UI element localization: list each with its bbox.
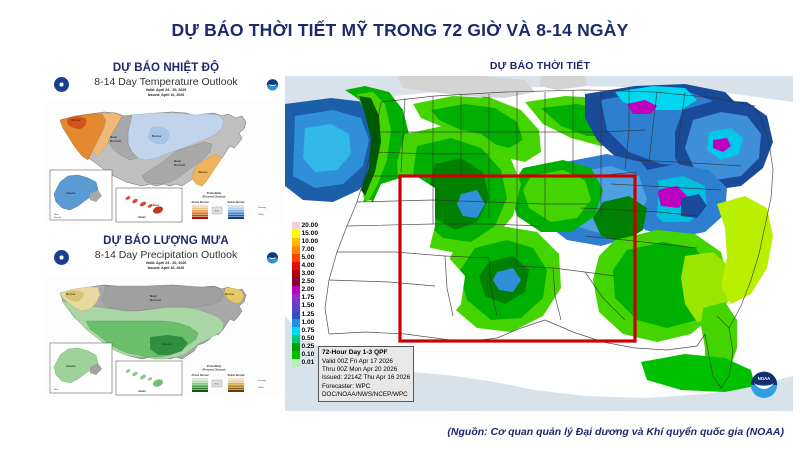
colorbar-value: 1.50 xyxy=(302,302,315,310)
label-near-normal-east2: Normal xyxy=(174,163,185,167)
legend-leaning: Leaning xyxy=(258,380,267,382)
colorbar-swatch xyxy=(292,302,300,310)
temperature-panel-subtitle: 8-14 Day Temperature Outlook xyxy=(46,76,286,88)
label-below-nw: Below xyxy=(66,292,76,296)
colorbar-swatch xyxy=(292,319,300,327)
temperature-outlook-panel: DỰ BÁO NHIỆT ĐỘ 8-14 Day Temperature Out… xyxy=(46,62,286,224)
colorbar-value: 15.00 xyxy=(302,230,319,238)
colorbar-row: 7.00 xyxy=(292,246,338,254)
precipitation-map[interactable]: Below Below Near Normal Above Alaska Nea… xyxy=(46,275,286,397)
info-forecaster: Forecaster: WPC xyxy=(322,383,410,391)
precipitation-panel-header: 8-14 Day Precipitation Outlook Valid: Ap… xyxy=(46,249,286,275)
legend-below-label: Below Normal xyxy=(228,201,245,204)
colorbar-row: 4.00 xyxy=(292,262,338,270)
legend-above-label: Above Normal xyxy=(192,201,209,204)
colorbar-swatch xyxy=(292,278,300,286)
legend-below-swatches xyxy=(228,205,244,219)
legend-near-label: Near xyxy=(215,210,220,213)
legend-subtitle: (Percent Chance) xyxy=(202,368,225,372)
colorbar-value: 1.25 xyxy=(302,311,315,319)
info-header: 72-Hour Day 1-3 QPF xyxy=(322,349,410,358)
legend-near-label: Near xyxy=(215,383,220,386)
temperature-issued-date: Issued: April 16, 2026 xyxy=(46,93,286,98)
colorbar-row: 0.50 xyxy=(292,335,338,343)
legend-above-swatches xyxy=(192,205,208,219)
label-below-maine: Below xyxy=(225,292,235,296)
label-above-nw: Above xyxy=(71,118,81,122)
colorbar-value: 10.00 xyxy=(302,238,319,246)
info-issued: Issued: 2214Z Thu Apr 16 2026 xyxy=(322,374,410,382)
colorbar-swatch xyxy=(292,262,300,270)
colorbar-value: 20.00 xyxy=(302,222,319,230)
legend-leaning: Leaning xyxy=(258,207,267,209)
alaska-inset-precip: Alaska Near xyxy=(50,343,112,393)
legend-below-label: Below Normal xyxy=(228,374,245,377)
label-hawaii: Hawaii xyxy=(138,390,146,393)
label-near-normal-n2: Normal xyxy=(150,298,161,302)
colorbar-swatch xyxy=(292,230,300,238)
noaa-wordmark: NOAA xyxy=(758,376,771,381)
legend-above-swatches xyxy=(192,378,208,392)
qpf-info-box: 72-Hour Day 1-3 QPF Valid 00Z Fri Apr 17… xyxy=(318,346,414,402)
page-title: DỰ BÁO THỜI TIẾT MỸ TRONG 72 GIỜ VÀ 8-14… xyxy=(0,20,800,41)
colorbar-value: 0.25 xyxy=(302,343,315,351)
slide-root: DỰ BÁO THỜI TIẾT MỸ TRONG 72 GIỜ VÀ 8-14… xyxy=(0,0,800,450)
noaa-logo-icon: NOAA xyxy=(747,367,781,401)
legend-likely: Likely xyxy=(258,214,264,216)
colorbar-value: 1.00 xyxy=(302,319,315,327)
temperature-map[interactable]: Above Below Near Normal Near Normal Abov… xyxy=(46,102,286,224)
temperature-legend: Probability (Percent Chance) Above Norma… xyxy=(192,191,267,219)
colorbar-row: 5.00 xyxy=(292,254,338,262)
temperature-panel-dates: Valid: April 24 - 30, 2026 Issued: April… xyxy=(46,88,286,98)
label-near-normal-west2: Normal xyxy=(110,139,121,143)
legend-below-swatches xyxy=(228,378,244,392)
colorbar-swatch xyxy=(292,343,300,351)
colorbar-row: 2.00 xyxy=(292,286,338,294)
colorbar-row: 1.75 xyxy=(292,294,338,302)
colorbar-swatch xyxy=(292,335,300,343)
colorbar-value: 0.50 xyxy=(302,335,315,343)
precipitation-issued-date: Issued: April 16, 2026 xyxy=(46,266,286,271)
colorbar-swatch xyxy=(292,311,300,319)
colorbar-value: 0.10 xyxy=(302,351,315,359)
precipitation-panel-title: DỰ BÁO LƯỢNG MƯA xyxy=(46,235,286,247)
temperature-panel-header: 8-14 Day Temperature Outlook Valid: Apri… xyxy=(46,76,286,102)
source-caption: (Nguồn: Cơ quan quản lý Đại dương và Khí… xyxy=(447,426,784,438)
colorbar-row: 15.00 xyxy=(292,230,338,238)
label-alaska: Alaska xyxy=(66,364,76,368)
hawaii-inset-precip: Hawaii xyxy=(116,361,182,395)
qpf-forecast-map[interactable]: 20.00 15.00 10.00 7.00 5.00 4.00 3.00 2.… xyxy=(285,76,793,411)
colorbar-swatch xyxy=(292,238,300,246)
label-above-south: Above xyxy=(162,342,172,346)
colorbar-value: 0.01 xyxy=(302,359,315,367)
colorbar-swatch xyxy=(292,294,300,302)
colorbar-swatch xyxy=(292,351,300,359)
legend-likely: Likely xyxy=(258,387,264,389)
colorbar-row: 20.00 xyxy=(292,222,338,230)
colorbar-swatch xyxy=(292,359,300,367)
label-below-central: Below xyxy=(152,134,162,138)
info-thru: Thru 00Z Mon Apr 20 2026 xyxy=(322,366,410,374)
label-above-se: Above xyxy=(198,170,208,174)
colorbar-row: 1.25 xyxy=(292,311,338,319)
colorbar-row: 1.00 xyxy=(292,319,338,327)
colorbar-value: 5.00 xyxy=(302,254,315,262)
colorbar-row: 0.75 xyxy=(292,327,338,335)
colorbar-row: 3.00 xyxy=(292,270,338,278)
alaska-inset: Alaska Near Normal xyxy=(50,170,112,220)
colorbar-swatch xyxy=(292,286,300,294)
colorbar-row: 2.50 xyxy=(292,278,338,286)
alaska-scale: Near xyxy=(54,213,59,216)
colorbar-value: 7.00 xyxy=(302,246,315,254)
colorbar-swatch xyxy=(292,222,300,230)
main-map-title: DỰ BÁO THỜI TIẾT xyxy=(285,60,795,72)
alaska-scale2: Normal xyxy=(54,216,62,219)
label-hawaii: Hawaii xyxy=(138,216,146,219)
precipitation-panel-subtitle: 8-14 Day Precipitation Outlook xyxy=(46,249,286,261)
temperature-panel-title: DỰ BÁO NHIỆT ĐỘ xyxy=(46,62,286,74)
hawaii-inset: Above Hawaii xyxy=(116,188,182,222)
colorbar-swatch xyxy=(292,270,300,278)
colorbar-row: 1.50 xyxy=(292,302,338,310)
colorbar-swatch xyxy=(292,327,300,335)
colorbar-row: 10.00 xyxy=(292,238,338,246)
colorbar-swatch xyxy=(292,254,300,262)
legend-above-label: Above Normal xyxy=(192,374,209,377)
precipitation-panel-dates: Valid: April 24 - 30, 2026 Issued: April… xyxy=(46,261,286,271)
precipitation-outlook-panel: DỰ BÁO LƯỢNG MƯA 8-14 Day Precipitation … xyxy=(46,235,286,397)
info-agency: DOC/NOAA/NWS/NCEP/WPC xyxy=(322,391,410,399)
precipitation-legend: Probability (Percent Chance) Above Norma… xyxy=(192,364,267,392)
info-valid: Valid 00Z Fri Apr 17 2026 xyxy=(322,358,410,366)
legend-subtitle: (Percent Chance) xyxy=(202,195,225,199)
left-panels: DỰ BÁO NHIỆT ĐỘ 8-14 Day Temperature Out… xyxy=(46,62,286,397)
label-hawaii-above: Above xyxy=(151,203,159,207)
alaska-near-label: Near xyxy=(54,388,59,391)
colorbar-swatch xyxy=(292,246,300,254)
label-alaska: Alaska xyxy=(66,191,76,195)
colorbar-value: 0.75 xyxy=(302,327,315,335)
